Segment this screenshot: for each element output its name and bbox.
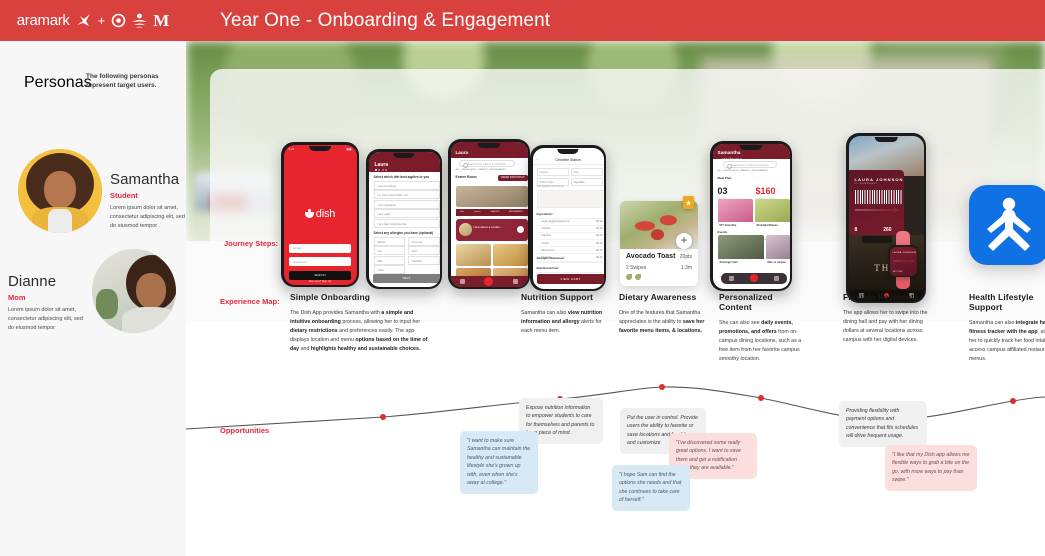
food-item-swipes: 2 Swipes — [626, 265, 646, 271]
option-vegetable: Vegetable — [571, 178, 603, 186]
option-omelet: Omelet — [537, 168, 569, 176]
event-photo — [766, 235, 790, 259]
allergen-accordion[interactable]: Allergen Statement — [537, 256, 603, 263]
events-heading: Events — [718, 230, 728, 234]
allergy-option[interactable]: Other — [374, 265, 406, 274]
xm-column-body: The Dish App provides Samantha with a si… — [290, 309, 432, 353]
promo-title: How about a cookie... — [474, 225, 503, 229]
star-badge-icon — [683, 196, 694, 209]
ingredient-row: Spinach$0.00 — [537, 226, 603, 233]
menu-item-card[interactable] — [493, 244, 528, 266]
dish-logo: dish — [284, 208, 357, 220]
swipe-arrow-icon — [855, 208, 901, 213]
event-photo — [718, 235, 764, 259]
figure-icon — [131, 13, 148, 29]
xm-column-title: Dietary Awareness — [619, 292, 705, 302]
venue-banner[interactable]: Entree Room ORDER FOR PICKUP — [456, 175, 528, 184]
ingredients-section: Ingredients Vegan Egg Replacement$0.00 S… — [537, 212, 603, 262]
home-nav-icon — [484, 277, 493, 286]
barcode-icon — [855, 190, 903, 204]
phone-notch — [875, 137, 898, 142]
brand-logo-group: aramark + M — [0, 12, 186, 29]
food-item-distance: 1.3m — [681, 265, 692, 271]
meal-plan-heading: Meal Plan — [718, 176, 732, 180]
phone-notch — [557, 149, 578, 154]
view-cart-button[interactable]: VIEW CART — [537, 274, 604, 284]
watch-case: LAURA JOHNSON TAP TO PAY — [888, 245, 918, 277]
allergy-option[interactable]: Tree Nut — [408, 237, 440, 246]
food-item-name: Avocado Toast — [626, 253, 675, 260]
allergy-option[interactable]: Soy — [374, 246, 406, 255]
allergy-option[interactable]: Milk — [374, 256, 406, 265]
phone-notch — [309, 146, 331, 151]
menu-item-card[interactable] — [456, 244, 491, 266]
student-name: LAURA JOHNSON — [855, 177, 904, 182]
journey-steps-label: Journey Steps: — [224, 239, 278, 248]
ingredient-row: Peppers$0.00 — [537, 233, 603, 240]
opportunities-label: Opportunities — [220, 426, 269, 435]
aramark-wordmark: aramark — [17, 12, 70, 29]
category-chips[interactable]: ALLDINING HALLS MARKETRESTAURANTS — [718, 170, 768, 172]
eye-icon — [111, 13, 126, 28]
xm-column-title: Simple Onboarding — [290, 292, 432, 302]
personas-subtitle: The following personas represent target … — [86, 72, 174, 91]
diet-option[interactable]: I'm more about what I eat — [374, 190, 440, 199]
email-field[interactable]: Email — [289, 244, 350, 253]
xm-column-flexible-payments: Flexible Payments The app allows her to … — [843, 292, 933, 345]
home-nav-icon — [750, 274, 758, 282]
allergy-option[interactable]: Fish — [408, 246, 440, 255]
option-size: Size — [571, 168, 603, 176]
phone-mockup-home-samantha: Welcome, Samantha Search food, cuisine &… — [710, 141, 792, 291]
bottom-nav[interactable] — [451, 276, 528, 287]
persona-info-samantha: Samantha Student Lorem ipsum dolor sit a… — [110, 171, 188, 231]
phone-mockup-login: 9:41▮▮▮ dish Email Password SIGN IN New … — [281, 142, 359, 287]
food-item-points: 20pts — [680, 254, 692, 260]
allergy-option[interactable]: Wheat — [374, 237, 406, 246]
sign-up-link[interactable]: New user? Sign Up — [284, 280, 357, 283]
personas-sidebar: Personas The following personas represen… — [0, 41, 186, 556]
persona-role: Student — [110, 191, 188, 200]
persona-role: Mom — [8, 293, 88, 302]
dietary-icons — [626, 274, 641, 280]
quote-bubble-student-payments: "I like that my Dish app allows me flexi… — [885, 445, 977, 491]
dollars-count: $160 — [756, 186, 776, 196]
xm-column-body: One of the features that Samantha apprec… — [619, 309, 705, 336]
phone-mockup-preferences: Welcome, Laura Select which diet best ap… — [366, 149, 442, 289]
xm-column-body: Samantha can also view nutrition informa… — [521, 309, 603, 336]
phone-mockup-item-detail: ‹ Omelette Station Omelet Size Protein T… — [530, 145, 606, 291]
persona-avatar-samantha — [18, 149, 102, 233]
special-instructions-label: Add special instructions — [537, 185, 564, 188]
xm-column-nutrition-support: Nutrition Support Samantha can also view… — [521, 292, 603, 336]
persona-avatar-dianne — [92, 249, 176, 333]
quote-bubble-parent-lifestyle: "I want to make sure Samantha can mainta… — [460, 431, 538, 494]
special-instructions-input[interactable] — [537, 190, 603, 208]
m-logo-icon: M — [153, 12, 169, 29]
phone-notch — [739, 145, 762, 150]
food-item-card-avocado-toast[interactable]: + Avocado Toast 20pts 2 Swipes 1.3m — [620, 201, 698, 286]
diet-option[interactable]: I am dairy & lactose free — [374, 219, 440, 228]
persona-description: Lorem ipsum dolor sit amet, consectetur … — [8, 306, 88, 333]
xm-column-body: Samantha can also integrate her fitness … — [969, 319, 1045, 363]
ingredient-row: Vegan Egg Replacement$0.00 — [537, 219, 603, 226]
experience-map-label: Experience Map: — [220, 297, 280, 306]
xm-column-dietary-awareness: Dietary Awareness One of the features th… — [619, 292, 705, 336]
persona-name: Dianne — [8, 273, 88, 290]
fitness-app-icon[interactable] — [969, 185, 1045, 265]
sign-in-button[interactable]: SIGN IN — [289, 271, 350, 280]
phone-notch — [477, 143, 500, 148]
category-chips[interactable]: ALLDINING HALLS MARKETRESTAURANTS — [456, 169, 506, 171]
xm-column-personalized-content: Personalized Content She can also see da… — [719, 292, 807, 363]
diet-option[interactable]: I am vegetarian — [374, 200, 440, 209]
search-input[interactable]: Search food, cuisine & restaurant — [459, 160, 515, 167]
xm-column-title: Flexible Payments — [843, 292, 933, 302]
back-icon[interactable]: ‹ — [537, 158, 538, 162]
xm-column-title: Health Lifestyle Support — [969, 292, 1045, 312]
phone-notch — [393, 153, 414, 158]
diet-option[interactable]: I eat everything — [374, 181, 440, 190]
add-item-button[interactable]: + — [676, 233, 692, 249]
star-figure-icon — [75, 12, 92, 29]
watch-footer: TAP TO PAY — [893, 271, 903, 273]
promo-card[interactable]: How about a cookie... — [456, 219, 528, 241]
promo-action-icon[interactable] — [517, 226, 524, 233]
xm-column-title: Nutrition Support — [521, 292, 603, 302]
venue-hero-image — [456, 186, 528, 207]
diet-question: Select which diet best applies to you — [374, 175, 430, 179]
ingredient-row: Onions$0.00 — [537, 240, 603, 247]
smoothie-photo — [718, 199, 753, 222]
persona-info-dianne: Dianne Mom Lorem ipsum dolor sit amet, c… — [8, 273, 88, 333]
allergy-option[interactable]: Shellfish — [408, 256, 440, 265]
swipes-count: 03 — [718, 186, 728, 196]
step-dots — [375, 169, 388, 171]
xm-column-body: The app allows her to swipe into the din… — [843, 309, 933, 345]
main-canvas: Journey Steps: 9:41▮▮▮ dish Email Passwo… — [186, 41, 1045, 556]
watch-swipe-arrow-icon — [893, 260, 915, 263]
app-header: aramark + M Year One - Onboarding & Enga… — [0, 0, 1045, 41]
phone-mockup-home-laura: Welcome, Laura Search food, cuisine & re… — [448, 139, 530, 289]
nutrition-accordion[interactable]: Nutritional Fact — [537, 266, 603, 273]
ramen-photo — [755, 199, 790, 222]
persona-name: Samantha — [110, 171, 188, 188]
cookie-image — [459, 223, 472, 236]
option-selectors[interactable]: Omelet Size Protein Type Vegetable — [537, 168, 603, 186]
ingredients-header: Ingredients — [537, 212, 603, 219]
student-id-card[interactable]: LAURA JOHNSON ID: 0004859832 8swipes rem… — [849, 170, 905, 242]
personas-title: Personas — [24, 74, 92, 92]
detail-title: ‹ Omelette Station — [533, 156, 604, 165]
order-pickup-button[interactable]: ORDER FOR PICKUP — [498, 175, 528, 181]
xm-column-simple-onboarding: Simple Onboarding The Dish App provides … — [290, 292, 432, 353]
persona-description: Lorem ipsum dolor sit amet, consectetur … — [110, 204, 188, 231]
next-button[interactable]: NEXT — [373, 274, 440, 283]
ingredient-row: Mushrooms$0.00 — [537, 247, 603, 254]
xm-column-title: Personalized Content — [719, 292, 807, 312]
search-input[interactable]: Search food, cuisine & restaurant — [723, 161, 777, 168]
opportunity-note-flexibility: Providing flexibility with payment optio… — [839, 401, 927, 447]
allergy-question: Select any allergies you have (optional) — [374, 231, 434, 235]
watch-student-name: LAURA JOHNSON — [893, 252, 917, 254]
page-title: Year One - Onboarding & Engagement — [220, 10, 550, 32]
smartwatch-mockup: LAURA JOHNSON TAP TO PAY — [888, 237, 918, 283]
student-id-number: ID: 0004859832 — [855, 183, 878, 185]
xm-column-body: She can also see daily events, promotion… — [719, 319, 807, 363]
plus-separator: + — [98, 13, 106, 28]
quote-bubble-parent-hope: "I hope Sam can find the options she nee… — [612, 465, 690, 511]
diet-option[interactable]: I am vegan — [374, 209, 440, 218]
bottom-nav[interactable] — [721, 273, 787, 284]
menu-tabs[interactable]: ALLSIDES SNACKSBEVERAGES — [456, 209, 528, 216]
password-field[interactable]: Password — [289, 257, 350, 266]
xm-column-health-lifestyle-support: Health Lifestyle Support Samantha can al… — [969, 292, 1045, 363]
